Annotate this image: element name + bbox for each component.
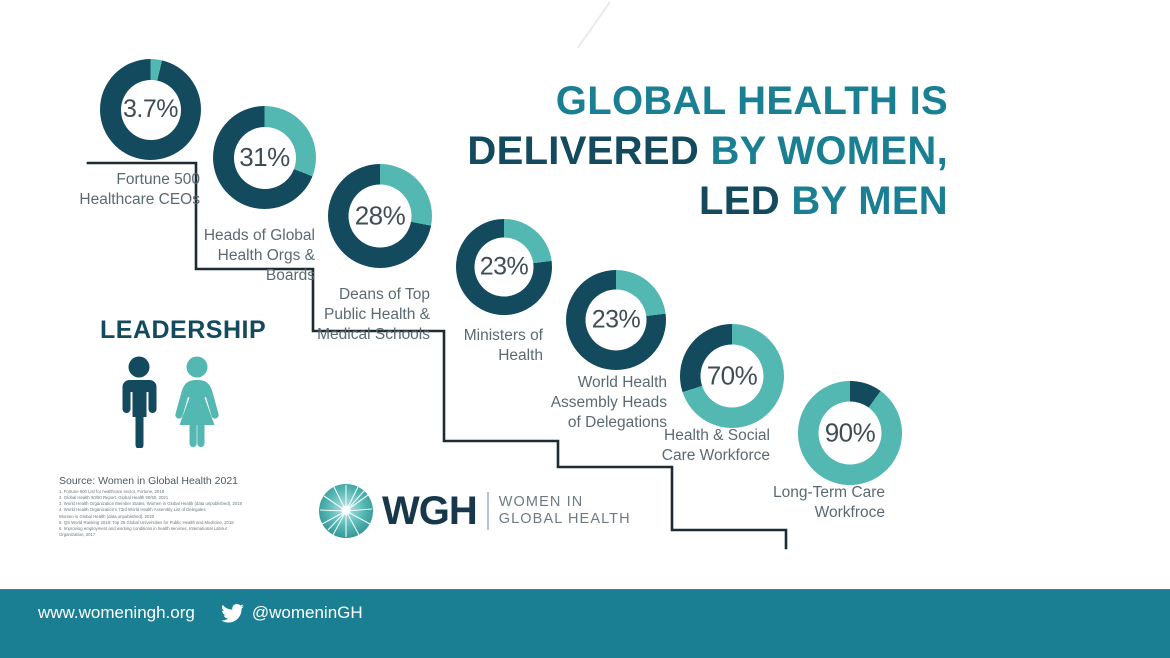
label-line: Ministers of [350, 326, 543, 346]
donut-hole: 70% [701, 345, 764, 408]
donut-world-health-assembly-heads: 23% [566, 270, 666, 370]
donut-value: 23% [480, 253, 529, 282]
donut-value: 90% [825, 418, 876, 449]
title-line-2: DELIVERED BY WOMEN, [308, 126, 948, 176]
logo-subtext-line: WOMEN IN [499, 494, 631, 511]
donut-value: 23% [592, 306, 641, 335]
footer-top-rule [0, 589, 1170, 590]
title-part: LED [699, 179, 780, 223]
label-line: Deans of Top [225, 285, 430, 305]
donut-value: 70% [707, 361, 758, 392]
donut-hole: 23% [475, 238, 534, 297]
twitter-bird-icon [221, 604, 244, 623]
female-figure-icon [175, 357, 218, 448]
male-figure-icon [123, 357, 157, 449]
donut-fortune-500-healthcare-ceos: 3.7% [100, 59, 201, 160]
donut-label-health-and-social-care-workforce: Health & Social Care Workforce [570, 426, 770, 466]
infographic-canvas: 3.7% Fortune 500 Healthcare CEOs 31% Hea… [0, 0, 1170, 658]
donut-label-world-health-assembly-heads: World Health Assembly Heads of Delegatio… [455, 373, 667, 433]
donut-value: 3.7% [123, 95, 178, 124]
label-line: Health [350, 346, 543, 366]
logo-wordmark: WGH [382, 491, 477, 531]
label-line: Health Orgs & [110, 246, 315, 266]
donut-value: 31% [239, 142, 290, 173]
footer-bar: www.womeningh.org @womeninGH [0, 589, 1170, 658]
logo-divider [487, 492, 489, 530]
donut-hole: 3.7% [121, 80, 181, 140]
title-part: DELIVERED [467, 129, 699, 173]
label-line: Heads of Global [110, 226, 315, 246]
leadership-heading: LEADERSHIP [100, 316, 266, 345]
wgh-globe-starburst-icon [318, 483, 374, 539]
label-line: Health & Social [570, 426, 770, 446]
title-part: BY MEN [791, 179, 948, 223]
donut-heads-of-global-health-orgs: 31% [213, 106, 316, 209]
source-notes: 1. Fortune 500 List for healthcare secto… [59, 489, 297, 538]
title-part: BY WOMEN, [710, 129, 948, 173]
logo-subtext: WOMEN IN GLOBAL HEALTH [499, 494, 631, 528]
title-part: GLOBAL HEALTH IS [556, 79, 948, 123]
donut-hole: 23% [586, 290, 647, 351]
label-line: Fortune 500 [0, 170, 200, 190]
label-line: World Health [455, 373, 667, 393]
label-line: Healthcare CEOs [0, 190, 200, 210]
page-title: GLOBAL HEALTH IS DELIVERED BY WOMEN, LED… [308, 76, 948, 226]
donut-label-fortune-500-healthcare-ceos: Fortune 500 Healthcare CEOs [0, 170, 200, 210]
decorative-diagonal-line [577, 1, 611, 48]
donut-label-long-term-care-workforce: Long-Term Care Workfroce [680, 483, 885, 523]
donut-health-and-social-care-workforce: 70% [680, 324, 784, 428]
label-line: Long-Term Care [680, 483, 885, 503]
wgh-logo: WGH WOMEN IN GLOBAL HEALTH [318, 483, 631, 539]
label-line: Boards [110, 266, 315, 286]
label-line: Care Workforce [570, 446, 770, 466]
footer-twitter[interactable]: @womeninGH [221, 603, 363, 623]
donut-label-heads-of-global-health-orgs: Heads of Global Health Orgs & Boards [110, 226, 315, 286]
footer-twitter-handle: @womeninGH [252, 603, 363, 623]
title-line-1: GLOBAL HEALTH IS [308, 76, 948, 126]
donut-ministers-of-health: 23% [456, 219, 552, 315]
logo-subtext-line: GLOBAL HEALTH [499, 511, 631, 528]
donut-hole: 90% [819, 402, 882, 465]
label-line: Assembly Heads [455, 393, 667, 413]
footer-website-link[interactable]: www.womeningh.org [38, 603, 195, 623]
title-line-3: LED BY MEN [308, 176, 948, 226]
donut-hole: 31% [234, 127, 296, 189]
source-title: Source: Women in Global Health 2021 [59, 475, 238, 487]
label-line: Workfroce [680, 503, 885, 523]
leadership-figures [110, 356, 240, 453]
source-note: Organization, 2017 [59, 532, 297, 538]
donut-label-ministers-of-health: Ministers of Health [350, 326, 543, 366]
